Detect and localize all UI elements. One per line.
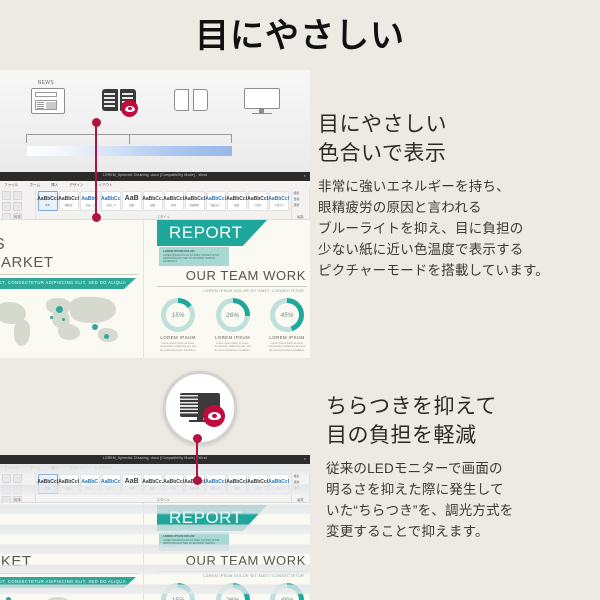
feature-bottom-heading: ちらつきを抑えて 目の負担を軽減 (326, 392, 600, 450)
donut-item: 15% LOREM IPSUM Lorem ipsum dolor sit am… (155, 298, 201, 352)
style-name: 見出し 2 (106, 486, 115, 490)
left-ribbon-text: AMET, CONSECTETUR ADIPISCING ELIT, SED D… (0, 280, 126, 285)
style-preview: AaBbCcI (226, 479, 247, 485)
eye-care-badge-icon (203, 405, 225, 427)
feature-bottom-body: 従来のLEDモニターで画面の 明るさを抑えた際に発生して いた“ちらつき”を、調… (326, 458, 600, 542)
feature-top-body-line: 非常に強いエネルギーを持ち、 (318, 176, 596, 197)
product-feature-page: 目にやさしい NEWS (0, 0, 600, 600)
select-button[interactable]: 選択 (294, 203, 307, 207)
feature-bottom-body-line: 従来のLEDモニターで画面の (326, 458, 600, 479)
style-preview: AaBbCc (101, 479, 120, 485)
feature-bottom-body-line: 明るさを抑えた際に発生して (326, 479, 600, 500)
monitor-outline-icon (244, 88, 280, 115)
donut-chart: 45% (270, 298, 304, 332)
donut-label: LOREM IPSUM (264, 335, 310, 340)
style-preview: AaBbCcI (205, 196, 226, 202)
report-subtitle-box: LOREM IPSUM DOLOR LOREM IPSUM DOLOR SIT … (159, 247, 229, 266)
osd-mode-icons: NEWS (0, 78, 310, 124)
style-item[interactable]: AaBbCcI強調斜体 (185, 191, 205, 211)
style-item[interactable]: AaBbCcI強調太字 (206, 474, 226, 494)
style-preview: AaBbCc. (142, 196, 163, 202)
page-title: 目にやさしい (0, 8, 600, 64)
style-item[interactable]: AaBbCcI行間詰め (59, 474, 79, 494)
report-subtitle-box: LOREM IPSUM DOLOR LOREM IPSUM DOLOR SIT … (159, 532, 229, 551)
style-name: 強調太字 (211, 203, 220, 207)
style-gallery[interactable]: AaBbCcI標準 AaBbCcI行間詰め AaBbC見出し 1 AaBbCc見… (36, 472, 291, 494)
tab-insert[interactable]: 挿入 (51, 466, 58, 471)
style-name: 行間詰め (64, 486, 73, 490)
left-divider (0, 274, 138, 275)
donut-body-text: Lorem ipsum dolor sit amet, consectetur … (264, 342, 310, 352)
style-item[interactable]: AaBbCcI強調太字 (206, 191, 226, 211)
style-name: 強調 (234, 486, 239, 490)
left-ribbon-text: AMET, CONSECTETUR ADIPISCING ELIT, SED D… (0, 579, 126, 584)
find-button[interactable]: 検索 (294, 474, 307, 478)
close-icon[interactable]: × (304, 456, 306, 461)
style-preview: AaBbCcI (37, 196, 58, 202)
feature-top-body: 非常に強いエネルギーを持ち、 眼精疲労の原因と言われる ブルーライトを抑え、目に… (318, 176, 596, 281)
tab-file[interactable]: ファイル (4, 466, 18, 471)
style-item[interactable]: AaBbCcI標準 (38, 474, 58, 494)
style-preview: AaBbCcI (268, 479, 289, 485)
word-titlebar: LOREM_Splendid Cleaning .docx [Compatibi… (0, 172, 310, 181)
ribbon-group-font: 段落 (0, 472, 36, 502)
bottom-screenshot-panel: LOREM_Splendid Cleaning .docx [Compatibi… (0, 455, 310, 600)
style-item[interactable]: AaBbC見出し 1 (80, 474, 100, 494)
donut-value: 26% (221, 303, 245, 327)
editing-buttons[interactable]: 検索 置換 選択 (292, 472, 309, 492)
style-name: 強調 (234, 203, 239, 207)
style-item[interactable]: AaBbCc見出し 2 (101, 191, 121, 211)
style-preview: AaBbCcI (37, 479, 58, 485)
ribbon-caption-editing: 編集 (292, 214, 309, 219)
style-preview: AaBbCcI (184, 196, 205, 202)
ribbon-caption-paragraph: 段落 (0, 214, 35, 219)
donut-chart: 26% (216, 583, 250, 600)
tab-home[interactable]: ホーム (29, 466, 40, 471)
style-preview: AaBbCcI (268, 196, 289, 202)
word-title-text: LOREM_Splendid Cleaning .docx [Compatibi… (103, 456, 208, 460)
feature-top-heading-line2: 色合いで表示 (318, 139, 596, 168)
donut-item: 45% (264, 583, 310, 600)
donut-body-text: Lorem ipsum dolor sit amet, consectetur … (155, 342, 201, 352)
callout-dot-top-start (92, 118, 101, 127)
word-window-top: LOREM_Splendid Cleaning .docx [Compatibi… (0, 172, 310, 358)
tab-layout[interactable]: レイアウト (95, 183, 113, 188)
callout-line-bottom (196, 438, 198, 480)
style-preview: AaBbCc (101, 196, 120, 202)
style-item[interactable]: AaBbCcI強調 (227, 191, 247, 211)
donut-chart: 26% (216, 298, 250, 332)
style-name: 見出し 1 (85, 203, 94, 207)
style-preview: AaBbCcI (163, 479, 184, 485)
style-preview: AaBbCcI (226, 196, 247, 202)
style-preview: AaBbC (81, 479, 98, 485)
donut-value: 45% (275, 588, 299, 600)
style-item[interactable]: AaB表題 (122, 474, 142, 494)
style-preview: AaBbCcI (247, 479, 268, 485)
style-item[interactable]: AaBbCcI行間詰め (59, 191, 79, 211)
feature-top-heading: 目にやさしい 色合いで表示 (318, 110, 596, 168)
select-button[interactable]: 選択 (294, 486, 307, 490)
editing-buttons[interactable]: 検索 置換 選択 (292, 189, 309, 209)
report-banner-text: REPORT (169, 223, 243, 243)
osd-mode-book-selected[interactable] (96, 81, 142, 121)
word-titlebar: LOREM_Splendid Cleaning .docx [Compatibi… (0, 455, 310, 464)
ribbon-group-styles: AaBbCcI標準 AaBbCcI行間詰め AaBbC見出し 1 AaBbCc見… (36, 472, 292, 502)
donut-label: LOREM IPSUM (155, 335, 201, 340)
style-preview: AaB (125, 479, 139, 485)
style-preview: AaBbCcI (58, 479, 79, 485)
report-sub-body: LOREM IPSUM DOLOR SIT AMET CONSECTETUR A… (163, 539, 223, 549)
style-name: 標準 (45, 486, 50, 490)
newspaper-icon: NEWS (31, 88, 65, 114)
word-ribbon: 段落 AaBbCcI標準 AaBbCcI行間詰め AaBbC見出し 1 AaBb… (0, 472, 310, 503)
style-name: 引用文 2 (274, 486, 283, 490)
slider-tick-marks (26, 134, 232, 143)
style-name: 標準 (45, 203, 50, 207)
style-name: 見出し 1 (85, 486, 94, 490)
style-name: 強調斜体 (190, 486, 199, 490)
top-screenshot-panel: NEWS (0, 70, 310, 358)
report-banner: REPORT (157, 505, 267, 531)
tab-design[interactable]: デザイン (69, 466, 83, 471)
osd-picture-mode-bar: NEWS (0, 70, 310, 172)
feature-top-body-line: ピクチャーモードを搭載しています。 (318, 260, 596, 281)
document-page-right: REPORT LOREM IPSUM DOLOR LOREM IPSUM DOL… (145, 503, 310, 600)
style-item[interactable]: AaBbCc.副題 (143, 474, 163, 494)
tab-insert[interactable]: 挿入 (51, 183, 58, 188)
document-page-left: S MARKET AMET, CONSECTETUR ADIPISCING EL… (0, 220, 144, 358)
feature-top-text: 目にやさしい 色合いで表示 非常に強いエネルギーを持ち、 眼精疲労の原因と言われ… (318, 110, 596, 281)
feature-top-body-line: ブルーライトを抑え、目に負担の (318, 218, 596, 239)
donut-chart: 15% (161, 583, 195, 600)
eye-care-badge-icon (121, 100, 138, 117)
tab-design[interactable]: デザイン (69, 183, 83, 188)
team-section-subtitle: LOREM IPSUM DOLOR SIT AMET, CONSECTETUR (203, 574, 304, 578)
donut-chart: 15% (161, 298, 195, 332)
left-divider (0, 573, 138, 574)
ribbon-caption-paragraph: 段落 (0, 497, 35, 502)
left-heading-line2: MARKET (0, 254, 54, 271)
callout-dot-bottom-start (193, 434, 202, 443)
style-item[interactable]: AaBbCc見出し 2 (101, 474, 121, 494)
document-page-left: MARKET AMET, CONSECTETUR ADIPISCING ELIT… (0, 503, 144, 600)
world-map-graphic (0, 593, 142, 600)
donut-value: 45% (275, 303, 299, 327)
osd-mode-reading[interactable] (168, 81, 214, 121)
word-ribbon-tabs[interactable]: ファイル ホーム 挿入 デザイン レイアウト (0, 181, 310, 189)
monitor-icon (180, 393, 220, 423)
feature-bottom-body-line: いた“ちらつき”を、調光方式を (326, 500, 600, 521)
style-preview: AaBbCcI (58, 196, 79, 202)
style-item[interactable]: AaBbCc.副題 (143, 191, 163, 211)
team-divider (157, 571, 307, 572)
left-heading-line1: S (0, 236, 6, 254)
style-item[interactable]: AaBbCcI引用文 (248, 474, 268, 494)
style-item[interactable]: AaBbCcI引用文 (248, 191, 268, 211)
osd-mode-monitor[interactable] (239, 81, 285, 121)
tab-layout[interactable]: レイアウト (95, 466, 113, 471)
donut-chart-group: 15% LOREM IPSUM Lorem ipsum dolor sit am… (155, 298, 310, 352)
style-name: 引用文 2 (274, 203, 283, 207)
style-name: 斜体 (171, 486, 176, 490)
style-name: 強調太字 (211, 486, 220, 490)
replace-button[interactable]: 置換 (294, 480, 307, 484)
team-section-title: OUR TEAM WORK (186, 553, 306, 568)
style-name: 表題 (129, 486, 134, 490)
news-icon-label: NEWS (38, 80, 54, 86)
style-preview: AaBbCc. (142, 479, 163, 485)
donut-value: 15% (166, 303, 190, 327)
style-item[interactable]: AaB表題 (122, 191, 142, 211)
feature-bottom-heading-line1: ちらつきを抑えて (326, 392, 600, 421)
style-preview: AaB (125, 196, 139, 202)
donut-body-text: Lorem ipsum dolor sit amet, consectetur … (210, 342, 256, 352)
tab-file[interactable]: ファイル (4, 183, 18, 188)
ribbon-group-font: 段落 (0, 189, 36, 219)
color-temperature-slider[interactable] (27, 146, 232, 156)
ribbon-group-editing: 検索 置換 選択 編集 (292, 189, 310, 219)
ribbon-caption-editing: 編集 (292, 497, 309, 502)
ribbon-group-styles: AaBbCcI標準 AaBbCcI行間詰め AaBbC見出し 1 AaBbCc見… (36, 189, 292, 219)
callout-dot-bottom-end (193, 476, 202, 485)
osd-mode-news[interactable]: NEWS (25, 81, 71, 121)
donut-item: 45% LOREM IPSUM Lorem ipsum dolor sit am… (264, 298, 310, 352)
world-map-graphic (0, 294, 142, 354)
style-name: 引用文 (254, 203, 261, 207)
tab-home[interactable]: ホーム (29, 183, 40, 188)
feature-bottom-text: ちらつきを抑えて 目の負担を軽減 従来のLEDモニターで画面の 明るさを抑えた際… (326, 392, 600, 542)
style-item[interactable]: AaBbCcI斜体 (164, 474, 184, 494)
left-heading-line2: MARKET (0, 553, 32, 570)
left-teal-ribbon: AMET, CONSECTETUR ADIPISCING ELIT, SED D… (0, 577, 136, 588)
donut-value: 26% (221, 588, 245, 600)
style-item[interactable]: AaBbCcI引用文 2 (269, 191, 289, 211)
open-book-outline-icon (174, 89, 208, 113)
style-preview: AaBbCcI (205, 479, 226, 485)
word-ribbon: 段落 AaBbCcI標準 AaBbCcI行間詰め AaBbC見出し 1 AaBb… (0, 189, 310, 220)
ribbon-caption-styles: スタイル (36, 497, 291, 502)
replace-button[interactable]: 置換 (294, 197, 307, 201)
donut-item: 15% (155, 583, 201, 600)
style-name: 副題 (150, 486, 155, 490)
style-name: 引用文 (254, 486, 261, 490)
style-name: 行間詰め (64, 203, 73, 207)
report-sub-title: LOREM IPSUM DOLOR (163, 249, 195, 253)
report-sub-title: LOREM IPSUM DOLOR (163, 534, 195, 538)
callout-line-top (95, 122, 97, 218)
style-name: 副題 (150, 203, 155, 207)
style-name: 表題 (129, 203, 134, 207)
team-section-subtitle: LOREM IPSUM DOLOR SIT AMET, CONSECTETUR (203, 289, 304, 293)
feature-top-body-line: 少ない紙に近い色温度で表示する (318, 239, 596, 260)
feature-bottom-body-line: 変更することで抑えます。 (326, 521, 600, 542)
donut-chart-group: 15% 26% 45% (155, 583, 310, 600)
report-banner: REPORT (157, 220, 267, 246)
document-canvas-top[interactable]: S MARKET AMET, CONSECTETUR ADIPISCING EL… (0, 220, 310, 358)
donut-label: LOREM IPSUM (210, 335, 256, 340)
donut-item: 26% LOREM IPSUM Lorem ipsum dolor sit am… (210, 298, 256, 352)
donut-chart: 45% (270, 583, 304, 600)
feature-top-body-line: 眼精疲労の原因と言われる (318, 197, 596, 218)
report-banner-text: REPORT (169, 508, 243, 528)
document-page-right: REPORT LOREM IPSUM DOLOR LOREM IPSUM DOL… (145, 220, 310, 358)
book-filled-icon (102, 89, 136, 113)
report-sub-body: LOREM IPSUM DOLOR SIT AMET CONSECTETUR A… (163, 254, 223, 264)
feature-top-heading-line1: 目にやさしい (318, 110, 596, 139)
word-ribbon-tabs[interactable]: ファイル ホーム 挿入 デザイン レイアウト (0, 464, 310, 472)
team-divider (157, 286, 307, 287)
team-section-title: OUR TEAM WORK (186, 268, 306, 283)
feature-bottom-heading-line2: 目の負担を軽減 (326, 421, 600, 450)
style-preview: AaBbCcI (163, 196, 184, 202)
style-item[interactable]: AaBbCcI標準 (38, 191, 58, 211)
ribbon-group-editing: 検索 置換 選択 編集 (292, 472, 310, 502)
close-icon[interactable]: × (304, 173, 306, 178)
find-button[interactable]: 検索 (294, 191, 307, 195)
document-canvas-bottom[interactable]: MARKET AMET, CONSECTETUR ADIPISCING ELIT… (0, 503, 310, 600)
style-name: 見出し 2 (106, 203, 115, 207)
donut-value: 15% (166, 588, 190, 600)
style-item[interactable]: AaBbCcI引用文 2 (269, 474, 289, 494)
ribbon-caption-styles: スタイル (36, 214, 291, 219)
donut-item: 26% (210, 583, 256, 600)
style-name: 強調斜体 (190, 203, 199, 207)
word-window-bottom: LOREM_Splendid Cleaning .docx [Compatibi… (0, 455, 310, 600)
style-gallery[interactable]: AaBbCcI標準 AaBbCcI行間詰め AaBbC見出し 1 AaBbCc見… (36, 189, 291, 211)
style-item[interactable]: AaBbCcI強調 (227, 474, 247, 494)
left-teal-ribbon: AMET, CONSECTETUR ADIPISCING ELIT, SED D… (0, 278, 136, 289)
word-title-text: LOREM_Splendid Cleaning .docx [Compatibi… (103, 173, 208, 177)
style-item[interactable]: AaBbCcI斜体 (164, 191, 184, 211)
callout-dot-top-end (92, 213, 101, 222)
style-preview: AaBbCcI (247, 196, 268, 202)
style-name: 斜体 (171, 203, 176, 207)
